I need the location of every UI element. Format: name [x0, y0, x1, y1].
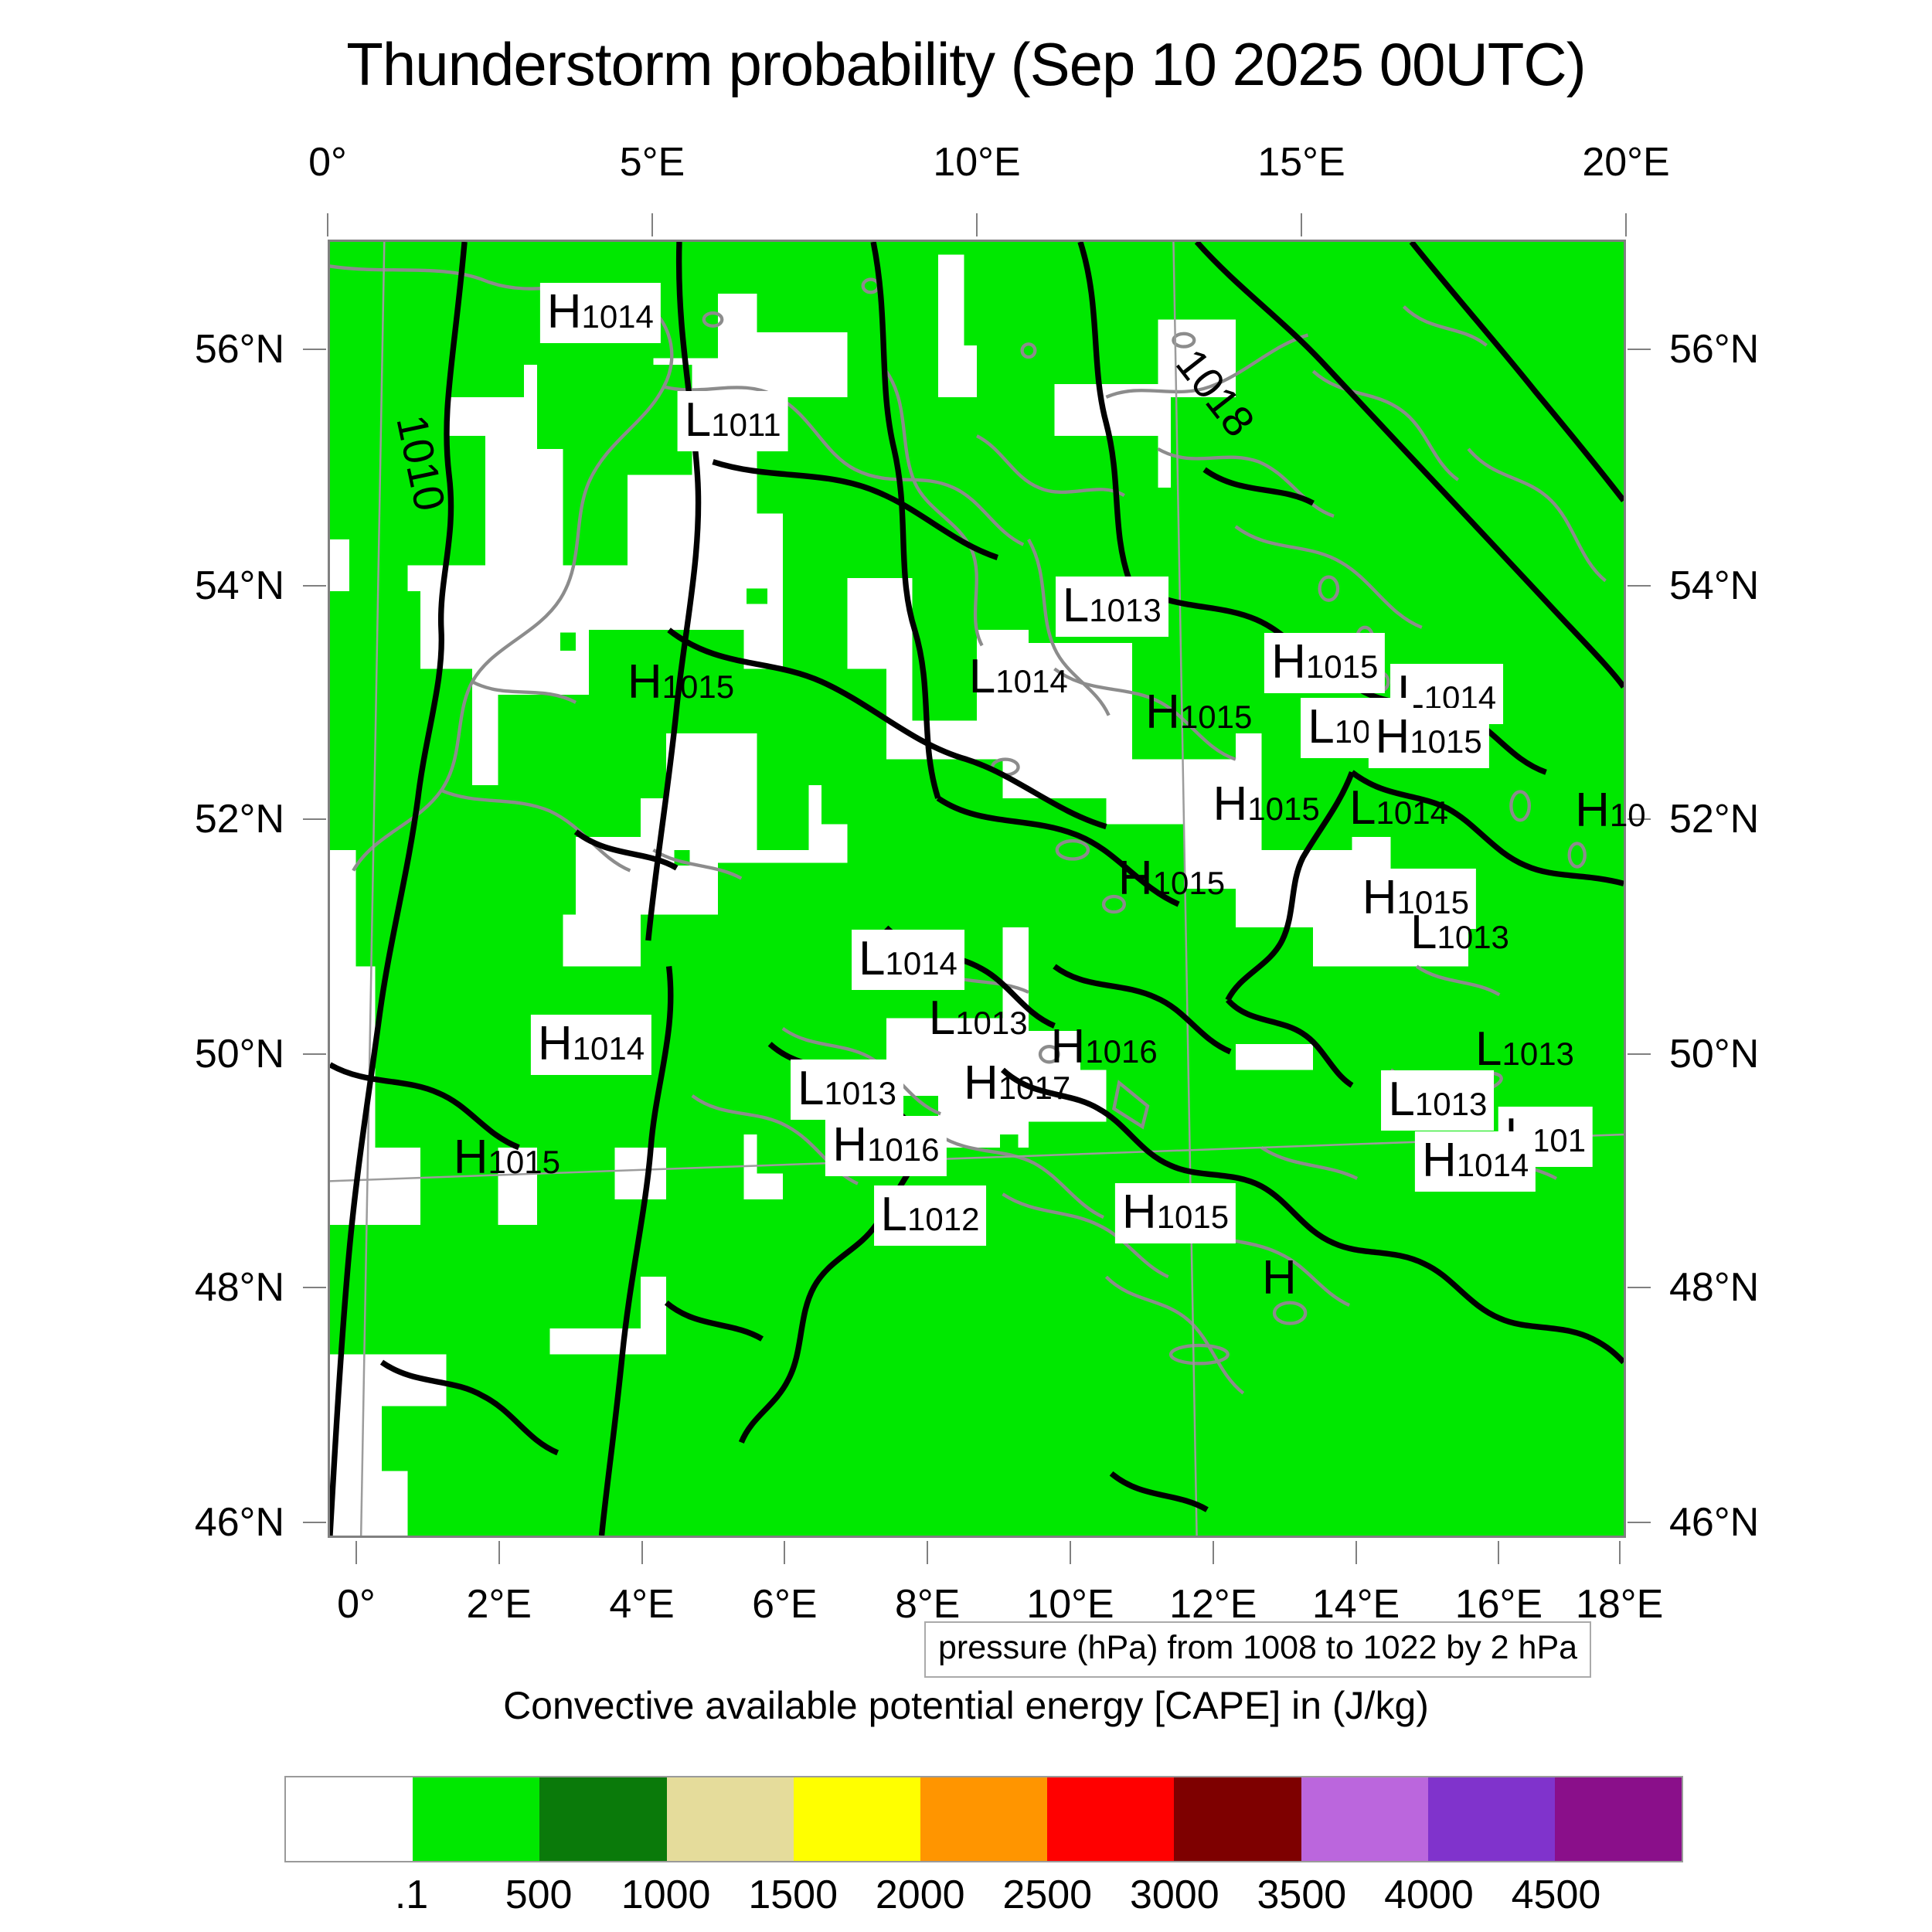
axis-tick-left-4 — [303, 1287, 326, 1288]
pressure-center-value: 1014 — [573, 1030, 645, 1066]
pressure-center-kind: H — [1122, 1185, 1157, 1239]
axis-tick-bottom-4 — [927, 1541, 928, 1564]
pressure-center-value: 1016 — [867, 1131, 939, 1168]
axis-tick-bottom-8 — [1498, 1541, 1499, 1564]
low-pressure-center: L1013 — [929, 995, 1028, 1043]
pressure-center-value: 1013 — [955, 1005, 1027, 1041]
pressure-center-value: 1014 — [1376, 794, 1448, 831]
colorbar-band-9[interactable] — [1428, 1777, 1555, 1861]
axis-tick-bottom-0 — [355, 1541, 357, 1564]
high-pressure-center: H1015 — [628, 658, 734, 706]
axis-label-bottom-4: 8°E — [895, 1581, 960, 1628]
axis-tick-right-1 — [1628, 585, 1651, 587]
axis-label-left-4: 48°N — [195, 1264, 284, 1311]
high-pressure-center: H1015 — [1145, 689, 1252, 736]
pressure-center-kind: L — [1308, 700, 1334, 753]
axis-label-bottom-5: 10°E — [1026, 1581, 1114, 1628]
pressure-center-kind: H — [454, 1131, 488, 1184]
low-pressure-center: L1014 — [852, 930, 964, 990]
low-pressure-center: L1013 — [1475, 1026, 1574, 1073]
pressure-center-kind: L — [881, 1188, 907, 1241]
pressure-center-kind: L — [1063, 579, 1089, 632]
axis-tick-bottom-7 — [1355, 1541, 1357, 1564]
low-pressure-center: L1011 — [678, 391, 788, 451]
pressure-center-value: 1013 — [825, 1075, 896, 1111]
pressure-center-value: 1015 — [1410, 723, 1481, 760]
pressure-center-value: 10 — [1610, 797, 1646, 833]
pressure-center-value: 1015 — [662, 668, 734, 705]
pressure-center-kind: H — [1422, 1134, 1457, 1187]
pressure-center-value: 101 — [1532, 1122, 1586, 1158]
high-pressure-center: H1015 — [454, 1134, 560, 1182]
pressure-center-value: 1011 — [711, 406, 781, 443]
pressure-center-value: 1014 — [995, 663, 1067, 699]
pressure-center-value: 1013 — [1502, 1036, 1573, 1072]
page-title: Thunderstorm probability (Sep 10 2025 00… — [0, 29, 1932, 100]
pressure-center-value: 1012 — [907, 1201, 979, 1237]
pressure-center-kind: H — [1362, 871, 1397, 924]
low-pressure-center: L1013 — [1056, 577, 1168, 637]
axis-tick-right-0 — [1628, 349, 1651, 350]
pressure-center-kind: H — [1271, 635, 1306, 689]
colorbar-tick-7: 3500 — [1257, 1872, 1347, 1918]
pressure-center-value: 1013 — [1415, 1086, 1487, 1122]
low-pressure-center: L1014 — [1349, 784, 1448, 832]
pressure-center-kind: H — [547, 285, 582, 338]
axis-tick-top-0 — [327, 213, 328, 236]
pressure-center-value: 1015 — [1180, 699, 1252, 735]
axis-tick-top-4 — [1625, 213, 1627, 236]
cape-colorbar[interactable] — [284, 1776, 1683, 1862]
colorbar-band-5[interactable] — [920, 1777, 1047, 1861]
pressure-center-kind: H — [1213, 777, 1248, 831]
axis-label-top-1: 5°E — [620, 139, 685, 185]
axis-tick-bottom-6 — [1213, 1541, 1214, 1564]
pressure-center-kind: H — [1575, 784, 1610, 837]
high-pressure-center: H1014 — [531, 1015, 651, 1075]
pressure-center-kind: H — [832, 1118, 867, 1172]
pressure-center-value: 1014 — [1457, 1147, 1529, 1183]
colorbar-band-1[interactable] — [413, 1777, 539, 1861]
high-pressure-center: H1017 — [964, 1060, 1070, 1107]
axis-tick-left-5 — [303, 1522, 326, 1523]
colorbar-band-7[interactable] — [1174, 1777, 1301, 1861]
high-pressure-center: H1014 — [540, 283, 661, 343]
pressure-center-kind: L — [1349, 781, 1376, 835]
axis-label-left-0: 56°N — [195, 326, 284, 372]
axis-tick-right-4 — [1628, 1287, 1651, 1288]
colorbar-band-10[interactable] — [1555, 1777, 1682, 1861]
colorbar-tick-2: 1000 — [621, 1872, 711, 1918]
high-pressure-center: H1015 — [1264, 633, 1385, 693]
low-pressure-center: L1013 — [791, 1060, 903, 1120]
axis-tick-left-0 — [303, 349, 326, 350]
axis-label-left-3: 50°N — [195, 1031, 284, 1077]
high-pressure-center: H1016 — [825, 1116, 946, 1176]
axis-label-top-3: 15°E — [1257, 139, 1345, 185]
axis-tick-top-3 — [1301, 213, 1302, 236]
pressure-center-kind: H — [1262, 1251, 1297, 1304]
axis-label-bottom-0: 0° — [337, 1581, 376, 1628]
axis-tick-right-5 — [1628, 1522, 1651, 1523]
axis-label-right-4: 48°N — [1669, 1264, 1759, 1311]
pressure-legend-box: pressure (hPa) from 1008 to 1022 by 2 hP… — [924, 1621, 1591, 1678]
pressure-center-kind: H — [1145, 685, 1180, 739]
axis-label-top-4: 20°E — [1582, 139, 1669, 185]
pressure-center-value: 1016 — [1085, 1033, 1157, 1070]
axis-label-top-2: 10°E — [933, 139, 1020, 185]
colorbar-tick-0: .1 — [395, 1872, 428, 1918]
pressure-center-kind: H — [964, 1056, 998, 1110]
colorbar-tick-5: 2500 — [1002, 1872, 1092, 1918]
axis-tick-left-3 — [303, 1053, 326, 1055]
colorbar-band-0[interactable] — [286, 1777, 413, 1861]
colorbar-tick-8: 4000 — [1384, 1872, 1474, 1918]
pressure-center-value: 1015 — [1157, 1199, 1229, 1235]
pressure-center-kind: L — [685, 393, 711, 447]
colorbar-tick-3: 1500 — [748, 1872, 838, 1918]
low-pressure-center: L1013 — [1381, 1070, 1494, 1131]
low-pressure-center: L1012 — [874, 1185, 987, 1246]
pressure-center-value: 1015 — [1153, 865, 1225, 901]
axis-label-right-1: 54°N — [1669, 563, 1759, 609]
axis-tick-right-3 — [1628, 1053, 1651, 1055]
pressure-center-kind: L — [969, 650, 995, 703]
axis-tick-top-1 — [651, 213, 653, 236]
axis-label-bottom-8: 16°E — [1455, 1581, 1543, 1628]
pressure-center-kind: L — [859, 932, 885, 985]
pressure-center-value: 1013 — [1437, 919, 1509, 955]
axis-tick-top-2 — [976, 213, 978, 236]
axis-label-left-1: 54°N — [195, 563, 284, 609]
pressure-legend-text: pressure (hPa) from 1008 to 1022 by 2 hP… — [938, 1629, 1577, 1666]
axis-tick-left-1 — [303, 585, 326, 587]
axis-label-bottom-2: 4°E — [609, 1581, 674, 1628]
colorbar-band-4[interactable] — [794, 1777, 920, 1861]
axis-label-bottom-9: 18°E — [1576, 1581, 1663, 1628]
pressure-center-kind: H — [1376, 710, 1410, 764]
pressure-center-kind: L — [1475, 1022, 1502, 1076]
pressure-center-value: 1015 — [1306, 648, 1378, 685]
axis-tick-bottom-3 — [784, 1541, 785, 1564]
axis-label-bottom-3: 6°E — [752, 1581, 817, 1628]
axis-label-right-0: 56°N — [1669, 326, 1759, 372]
pressure-center-kind: L — [1410, 906, 1437, 959]
pressure-center-value: 1014 — [885, 945, 957, 981]
axis-tick-bottom-1 — [498, 1541, 500, 1564]
colorbar-tick-labels: .150010001500200025003000350040004500 — [284, 1872, 1683, 1926]
axis-label-bottom-6: 12°E — [1169, 1581, 1257, 1628]
colorbar-band-6[interactable] — [1047, 1777, 1174, 1861]
pressure-center-value: 1017 — [998, 1070, 1070, 1106]
high-pressure-center: H10 — [1575, 787, 1646, 835]
pressure-center-value: 1013 — [1089, 592, 1161, 628]
axis-label-left-5: 46°N — [195, 1499, 284, 1546]
pressure-center-value: 1015 — [488, 1144, 560, 1180]
colorbar-band-3[interactable] — [667, 1777, 794, 1861]
pressure-center-value: 1015 — [1247, 791, 1319, 827]
axis-tick-left-2 — [303, 818, 326, 820]
high-pressure-center: H1015 — [1115, 1183, 1236, 1243]
pressure-center-kind: H — [628, 655, 662, 709]
pressure-center-kind: L — [1388, 1073, 1414, 1126]
axis-label-left-2: 52°N — [195, 796, 284, 842]
pressure-center-value: 1014 — [581, 298, 653, 335]
axis-label-bottom-7: 14°E — [1312, 1581, 1400, 1628]
colorbar-band-2[interactable] — [539, 1777, 666, 1861]
colorbar-tick-9: 4500 — [1512, 1872, 1601, 1918]
axis-tick-bottom-5 — [1070, 1541, 1071, 1564]
axis-label-top-0: 0° — [308, 139, 347, 185]
colorbar-tick-6: 3000 — [1130, 1872, 1219, 1918]
pressure-center-kind: H — [1118, 852, 1153, 905]
high-pressure-center: H1015 — [1213, 781, 1320, 828]
pressure-center-kind: L — [798, 1062, 824, 1115]
low-pressure-center: L1013 — [1410, 909, 1509, 957]
colorbar-caption: Convective available potential energy [C… — [0, 1683, 1932, 1728]
colorbar-band-8[interactable] — [1301, 1777, 1428, 1861]
high-pressure-center: H1014 — [1415, 1131, 1536, 1192]
axis-label-right-3: 50°N — [1669, 1031, 1759, 1077]
high-pressure-center: H1015 — [1118, 855, 1225, 903]
low-pressure-center: L1014 — [969, 653, 1068, 701]
axis-label-bottom-1: 2°E — [467, 1581, 532, 1628]
high-pressure-center: H — [1262, 1254, 1297, 1302]
weather-map-page: Thunderstorm probability (Sep 10 2025 00… — [0, 0, 1932, 1932]
pressure-center-kind: L — [929, 992, 955, 1045]
axis-label-right-2: 52°N — [1669, 796, 1759, 842]
high-pressure-center: H1015 — [1369, 708, 1489, 768]
axis-label-right-5: 46°N — [1669, 1499, 1759, 1546]
pressure-center-kind: H — [538, 1017, 573, 1070]
colorbar-tick-1: 500 — [505, 1872, 573, 1918]
axis-tick-bottom-2 — [641, 1541, 643, 1564]
axis-tick-bottom-9 — [1619, 1541, 1621, 1564]
colorbar-tick-4: 2000 — [876, 1872, 965, 1918]
